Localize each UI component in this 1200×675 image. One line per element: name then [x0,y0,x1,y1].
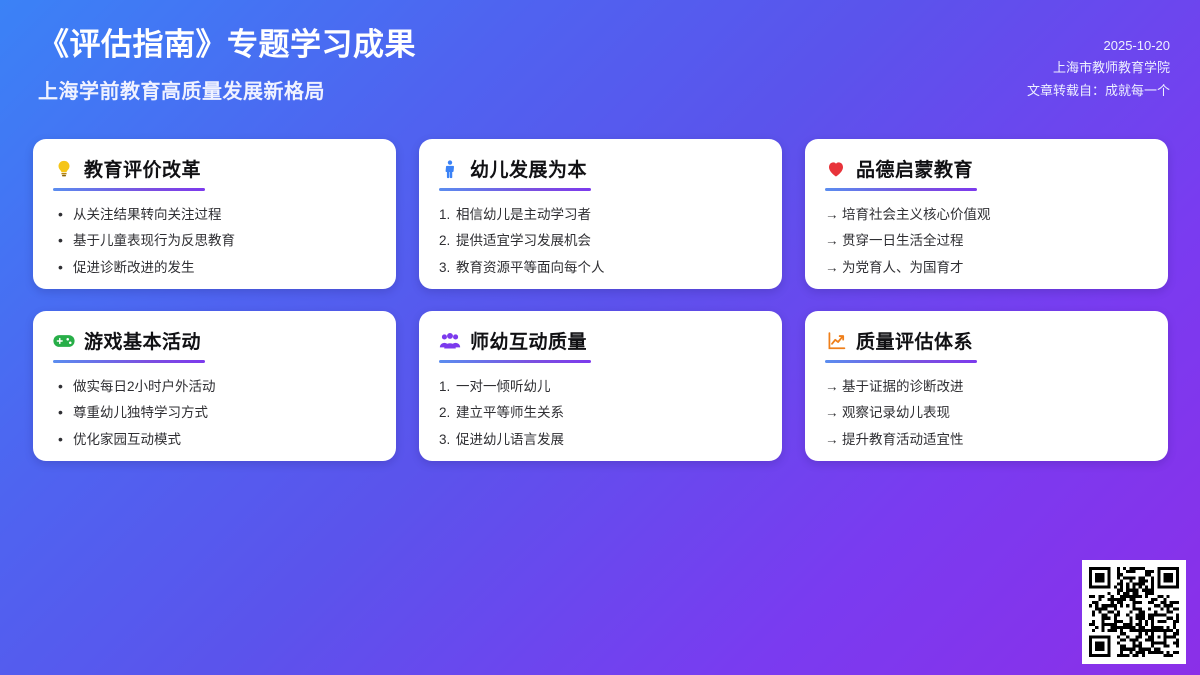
card-title: 教育评价改革 [84,155,201,182]
arrow-marker: → [825,431,842,449]
arrow-marker: → [825,378,842,396]
page-header: 《评估指南》专题学习成果 上海学前教育高质量发展新格局 2025-10-20 上… [0,0,1200,122]
list-item: 3.教育资源平等面向每个人 [439,254,762,281]
card-item-list: •做实每日2小时户外活动•尊重幼儿独特学习方式•优化家园互动模式 [53,373,376,453]
arrow-marker: → [825,259,842,277]
card-title-underline [53,188,205,191]
card-header: 游戏基本活动 [53,327,376,360]
card-title-underline [439,188,591,191]
number-marker: 3. [439,431,456,449]
list-item-text: 促进幼儿语言发展 [456,431,564,449]
list-item: →培育社会主义核心价值观 [825,201,1148,228]
arrow-marker: → [825,404,842,422]
card-title: 幼儿发展为本 [470,155,587,182]
number-marker: 3. [439,259,456,277]
card-item-list: 1.相信幼儿是主动学习者2.提供适宜学习发展机会3.教育资源平等面向每个人 [439,201,762,281]
card-title-underline [53,360,205,363]
number-marker: 1. [439,378,456,396]
list-item-text: 相信幼儿是主动学习者 [456,206,591,224]
list-item: •尊重幼儿独特学习方式 [53,400,376,427]
list-item: •促进诊断改进的发生 [53,254,376,281]
list-item-text: 促进诊断改进的发生 [73,259,195,277]
list-item: →提升教育活动适宜性 [825,426,1148,453]
page-title: 《评估指南》专题学习成果 [38,26,416,65]
arrow-marker: → [825,206,842,224]
list-item: 3.促进幼儿语言发展 [439,426,762,453]
list-item: •做实每日2小时户外活动 [53,373,376,400]
number-marker: 2. [439,232,456,250]
list-item: 2.建立平等师生关系 [439,400,762,427]
card-item-list: →培育社会主义核心价值观→贯穿一日生活全过程→为党育人、为国育才 [825,201,1148,281]
card-title-underline [825,188,977,191]
list-item-text: 观察记录幼儿表现 [842,404,950,422]
list-item-text: 提升教育活动适宜性 [842,431,964,449]
qr-code[interactable] [1082,560,1186,664]
list-item-text: 建立平等师生关系 [456,404,564,422]
card-header: 品德启蒙教育 [825,155,1148,188]
card-quality-evaluation-system: 质量评估体系→基于证据的诊断改进→观察记录幼儿表现→提升教育活动适宜性 [805,311,1168,461]
bullet-marker: • [53,378,73,395]
card-title: 游戏基本活动 [84,327,201,354]
publish-date: 2025-10-20 [1104,35,1171,57]
heart-icon [825,158,847,180]
list-item: →观察记录幼儿表现 [825,400,1148,427]
card-header: 教育评价改革 [53,155,376,188]
list-item-text: 培育社会主义核心价值观 [842,206,991,224]
people-group-icon [439,330,461,352]
list-item-text: 从关注结果转向关注过程 [73,206,222,224]
card-teacher-child-interaction-quality: 师幼互动质量1.一对一倾听幼儿2.建立平等师生关系3.促进幼儿语言发展 [419,311,782,461]
number-marker: 2. [439,404,456,422]
list-item-text: 贯穿一日生活全过程 [842,232,964,250]
card-item-list: 1.一对一倾听幼儿2.建立平等师生关系3.促进幼儿语言发展 [439,373,762,453]
card-moral-enlightenment-education: 品德启蒙教育→培育社会主义核心价值观→贯穿一日生活全过程→为党育人、为国育才 [805,139,1168,289]
card-grid: 教育评价改革•从关注结果转向关注过程•基于儿童表现行为反思教育•促进诊断改进的发… [33,139,1168,461]
gamepad-icon [53,330,75,352]
list-item: •从关注结果转向关注过程 [53,201,376,228]
card-header: 质量评估体系 [825,327,1148,360]
card-title: 师幼互动质量 [470,327,587,354]
card-title: 质量评估体系 [856,327,973,354]
bullet-marker: • [53,259,73,276]
list-item-text: 一对一倾听幼儿 [456,378,551,396]
list-item-text: 基于儿童表现行为反思教育 [73,232,235,250]
card-title-underline [825,360,977,363]
card-header: 幼儿发展为本 [439,155,762,188]
list-item: →为党育人、为国育才 [825,254,1148,281]
lightbulb-icon [53,158,75,180]
chart-line-icon [825,330,847,352]
header-meta-block: 2025-10-20 上海市教师教育学院 文章转载自：成就每一个 [1027,26,1170,102]
list-item-text: 尊重幼儿独特学习方式 [73,404,208,422]
list-item-text: 优化家园互动模式 [73,431,181,449]
number-marker: 1. [439,206,456,224]
arrow-marker: → [825,232,842,250]
list-item: 2.提供适宜学习发展机会 [439,228,762,255]
list-item-text: 教育资源平等面向每个人 [456,259,605,277]
list-item-text: 做实每日2小时户外活动 [73,378,216,396]
card-education-evaluation-reform: 教育评价改革•从关注结果转向关注过程•基于儿童表现行为反思教育•促进诊断改进的发… [33,139,396,289]
list-item: •优化家园互动模式 [53,426,376,453]
bullet-marker: • [53,206,73,223]
card-header: 师幼互动质量 [439,327,762,360]
list-item-text: 基于证据的诊断改进 [842,378,964,396]
list-item-text: 为党育人、为国育才 [842,259,964,277]
card-item-list: →基于证据的诊断改进→观察记录幼儿表现→提升教育活动适宜性 [825,373,1148,453]
list-item: 1.相信幼儿是主动学习者 [439,201,762,228]
card-title-underline [439,360,591,363]
child-person-icon [439,158,461,180]
list-item: →贯穿一日生活全过程 [825,228,1148,255]
bullet-marker: • [53,431,73,448]
organization-name: 上海市教师教育学院 [1053,57,1170,79]
qr-code-image [1089,567,1179,657]
list-item: •基于儿童表现行为反思教育 [53,228,376,255]
list-item: 1.一对一倾听幼儿 [439,373,762,400]
card-item-list: •从关注结果转向关注过程•基于儿童表现行为反思教育•促进诊断改进的发生 [53,201,376,281]
bullet-marker: • [53,232,73,249]
header-title-block: 《评估指南》专题学习成果 上海学前教育高质量发展新格局 [38,26,416,104]
card-title: 品德启蒙教育 [856,155,973,182]
bullet-marker: • [53,404,73,421]
list-item-text: 提供适宜学习发展机会 [456,232,591,250]
page-subtitle: 上海学前教育高质量发展新格局 [38,75,416,104]
list-item: →基于证据的诊断改进 [825,373,1148,400]
card-child-development-first: 幼儿发展为本1.相信幼儿是主动学习者2.提供适宜学习发展机会3.教育资源平等面向… [419,139,782,289]
source-credit: 文章转载自：成就每一个 [1027,80,1170,102]
card-play-based-activity: 游戏基本活动•做实每日2小时户外活动•尊重幼儿独特学习方式•优化家园互动模式 [33,311,396,461]
